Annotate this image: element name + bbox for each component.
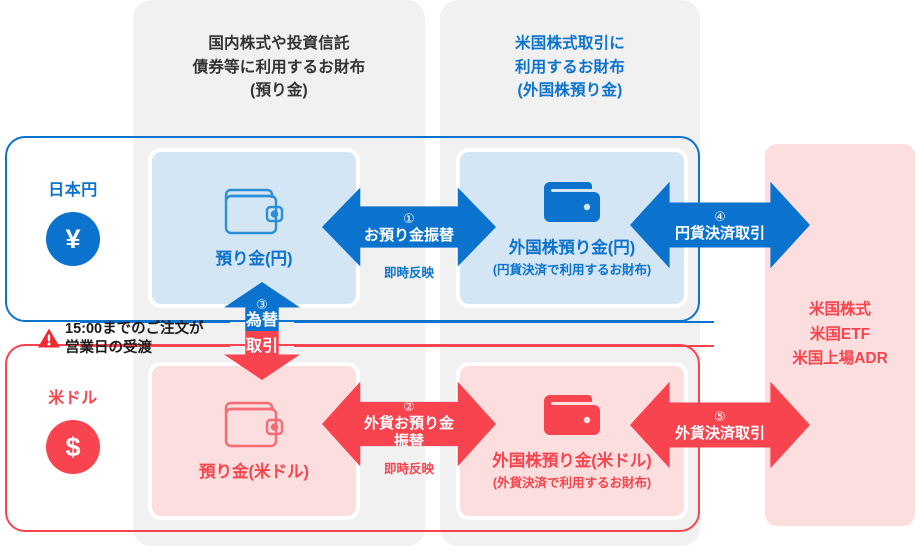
arrow-4-number: ④ xyxy=(675,209,765,225)
arrow-1-note: 即時反映 xyxy=(349,262,469,281)
yen-symbol-icon: ¥ xyxy=(46,212,100,266)
currency-label-jpy-text: 日本円 xyxy=(18,176,128,200)
wallet-name-usd-deposit: 預り金(米ドル) xyxy=(199,462,309,483)
arrow-2-text-line1: 外貨お預り金 xyxy=(364,415,454,433)
diagram-canvas: 国内株式や投資信託 債券等に利用するお財布 (預り金) 米国株式取引に 利用する… xyxy=(0,0,920,552)
product-line-3: 米国上場ADR xyxy=(792,347,888,372)
arrow-3-number: ③ xyxy=(246,298,278,312)
arrow-3-up-half: ③ 為替 xyxy=(224,282,300,331)
connector-line-red-right xyxy=(294,345,714,347)
column-foreign-title-line2: 利用するお財布 xyxy=(440,56,700,80)
settlement-warning-line1: 15:00までのご注文が xyxy=(65,321,204,337)
arrow-3-text-top: 為替 xyxy=(246,312,278,330)
currency-label-jpy: 日本円 ¥ xyxy=(18,176,128,266)
arrow-3-up-label: ③ 為替 xyxy=(246,298,278,331)
arrow-3-text-bottom: 取引 xyxy=(246,331,278,356)
wallet-outline-icon xyxy=(223,400,285,455)
arrow-2-label: ② 外貨お預り金 振替 xyxy=(364,398,454,451)
arrow-4-text: 円貨決済取引 xyxy=(675,225,765,243)
settlement-warning: 15:00までのご注文が 営業日の受渡 xyxy=(37,320,204,358)
arrow-3-down-half: 取引 xyxy=(224,331,300,380)
wallet-sub-jpy-foreign: (円貨決済で利用するお財布) xyxy=(493,262,651,278)
column-domestic-title: 国内株式や投資信託 債券等に利用するお財布 (預り金) xyxy=(133,32,425,103)
column-foreign-title: 米国株式取引に 利用するお財布 (外国株預り金) xyxy=(440,32,700,103)
wallet-outline-icon xyxy=(223,187,285,242)
settlement-warning-text: 15:00までのご注文が 営業日の受渡 xyxy=(65,320,204,358)
arrow-4-label: ④ 円貨決済取引 xyxy=(675,208,765,243)
arrow-5-label: ⑤ 外貨決済取引 xyxy=(675,408,765,443)
currency-label-usd-text: 米ドル xyxy=(18,384,128,408)
wallet-filled-icon xyxy=(542,178,602,231)
arrow-3-fx-exchange: ③ 為替 取引 xyxy=(224,282,300,380)
arrow-5-text: 外貨決済取引 xyxy=(675,425,765,443)
arrow-5-number: ⑤ xyxy=(675,409,765,425)
warning-triangle-icon xyxy=(37,327,61,354)
wallet-name-jpy-foreign: 外国株預り金(円) xyxy=(509,238,636,259)
column-foreign-title-line3: (外国株預り金) xyxy=(440,79,700,103)
dollar-symbol-icon: $ xyxy=(46,420,100,474)
wallet-filled-icon xyxy=(542,391,602,444)
arrow-1-number: ① xyxy=(364,211,454,227)
arrow-1-label: ① お預り金振替 xyxy=(364,210,454,245)
currency-label-usd: 米ドル $ xyxy=(18,384,128,474)
wallet-name-jpy-deposit: 預り金(円) xyxy=(216,249,293,270)
column-domestic-title-line2: 債券等に利用するお財布 xyxy=(133,56,425,80)
product-line-1: 米国株式 xyxy=(792,298,888,323)
settlement-warning-line2: 営業日の受渡 xyxy=(65,340,152,356)
products-panel-text: 米国株式 米国ETF 米国上場ADR xyxy=(792,298,888,372)
connector-line-blue-right xyxy=(294,321,714,323)
column-domestic-title-line1: 国内株式や投資信託 xyxy=(133,32,425,56)
column-domestic-title-line3: (預り金) xyxy=(133,79,425,103)
wallet-box-usd-deposit: 預り金(米ドル) xyxy=(148,362,360,520)
arrow-2-note: 即時反映 xyxy=(349,458,469,477)
arrow-1-text: お預り金振替 xyxy=(364,227,454,245)
product-line-2: 米国ETF xyxy=(792,323,888,348)
wallet-name-usd-foreign: 外国株預り金(米ドル) xyxy=(492,451,652,472)
wallet-sub-usd-foreign: (外貨決済で利用するお財布) xyxy=(493,475,651,491)
column-foreign-title-line1: 米国株式取引に xyxy=(440,32,700,56)
